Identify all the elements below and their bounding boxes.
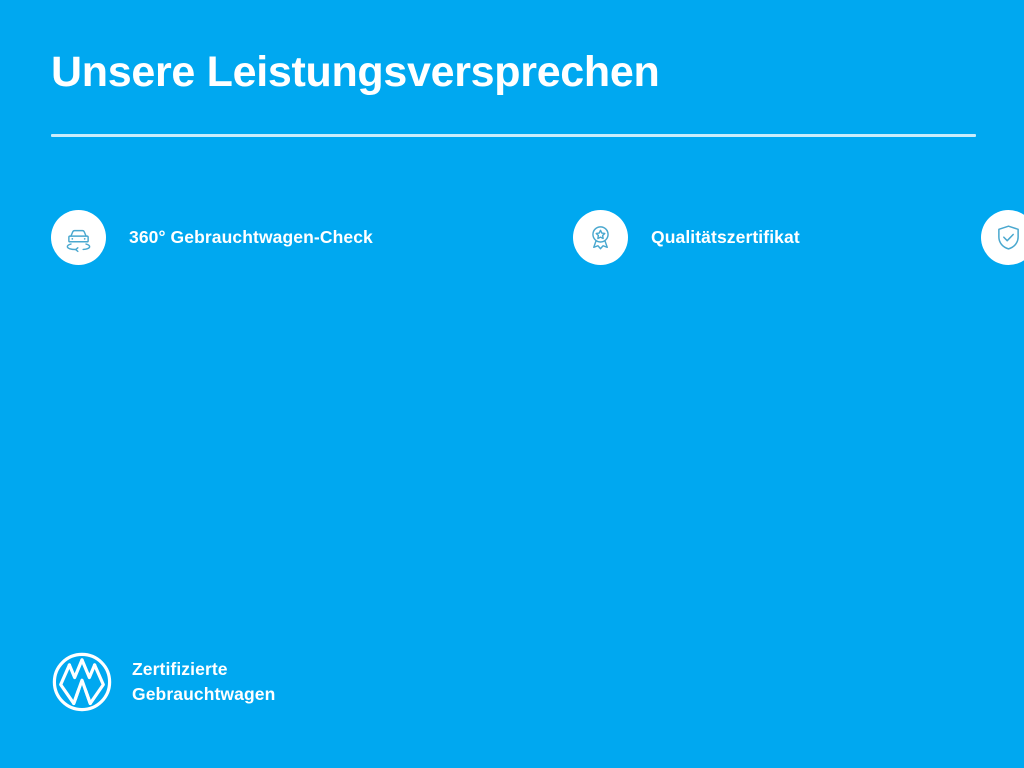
award-rosette-icon: [573, 210, 628, 265]
car-360-check-icon: [51, 210, 106, 265]
feature-item-gebrauchtwagengarantie[interactable]: Gebrauchtwagengarantie: [981, 199, 1024, 277]
feature-item-qualitaetszertifikat[interactable]: Qualitätszertifikat: [573, 199, 981, 277]
brand-text: Zertifizierte Gebrauchtwagen: [132, 657, 275, 707]
brand-text-line-1: Zertifizierte: [132, 657, 275, 682]
feature-label: Qualitätszertifikat: [651, 227, 800, 248]
page-title: Unsere Leistungsversprechen: [51, 46, 976, 98]
brand-footer: Zertifizierte Gebrauchtwagen: [51, 651, 275, 713]
feature-list: 360° Gebrauchtwagen-Check Qualitätszerti…: [51, 199, 981, 277]
brand-text-line-2: Gebrauchtwagen: [132, 682, 275, 707]
header: Unsere Leistungsversprechen: [51, 46, 976, 137]
title-divider: [51, 134, 976, 137]
feature-label: 360° Gebrauchtwagen-Check: [129, 227, 373, 248]
feature-item-360-check[interactable]: 360° Gebrauchtwagen-Check: [51, 199, 573, 277]
shield-check-icon: [981, 210, 1024, 265]
slide-root: Unsere Leistungsversprechen 360° Gebrauc…: [0, 0, 1024, 768]
volkswagen-logo-icon: [51, 651, 113, 713]
